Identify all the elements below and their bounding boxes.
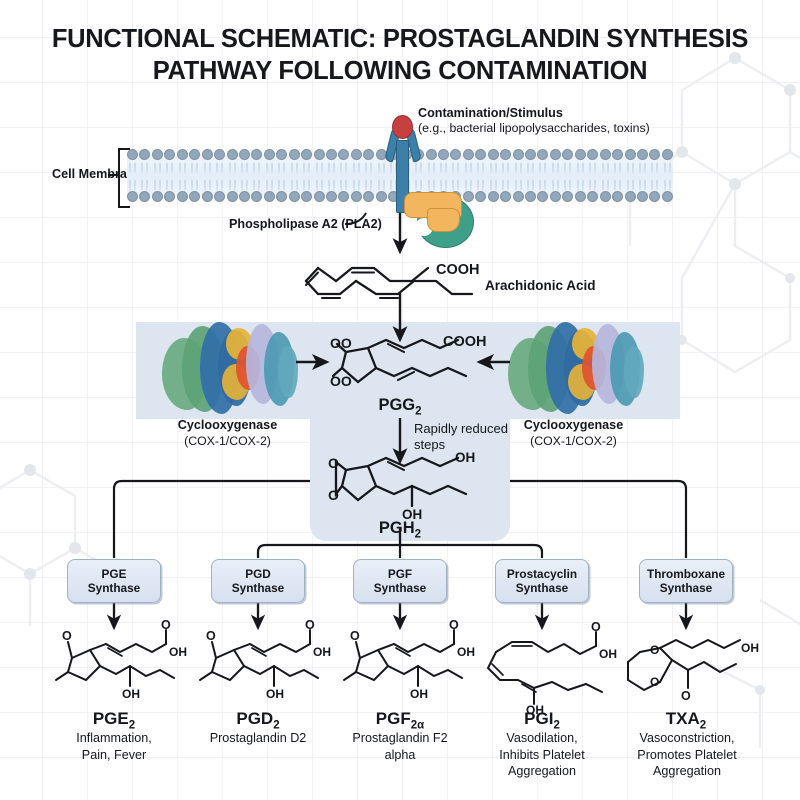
pgh2-structure	[336, 458, 466, 506]
pgi2-desc-1: Vasodilation,	[472, 730, 612, 747]
aa-cooh-label: COOH	[436, 262, 480, 278]
synthase-thromboxane-line2: Synthase	[660, 581, 712, 595]
synthase-pge-text: PGE Synthase	[88, 567, 140, 596]
pgg2-cooh: COOH	[443, 334, 487, 350]
pge2-desc-2: Pain, Fever	[44, 747, 184, 764]
synthase-pgd-text: PGD Synthase	[232, 567, 284, 596]
pgf2a-desc-2: alpha	[330, 747, 470, 764]
pgg2-main: PGG	[378, 396, 415, 414]
product-name-txa2: TXA2	[626, 709, 746, 731]
pgg2-label: PGG2	[340, 396, 460, 417]
synthase-prostacyclin-text: Prostacyclin Synthase	[507, 567, 577, 596]
synthase-prostacyclin-line1: Prostacyclin	[507, 567, 577, 581]
product-desc-pgf2a: Prostaglandin F2 alpha	[330, 730, 470, 763]
svg-text:OH: OH	[599, 647, 617, 661]
synthase-box-pge[interactable]: PGE Synthase	[67, 559, 161, 603]
synthase-pge-line2: Synthase	[88, 581, 140, 595]
synthase-box-prostacyclin[interactable]: Prostacyclin Synthase	[495, 559, 589, 603]
svg-text:O: O	[650, 643, 659, 657]
svg-text:OH: OH	[122, 687, 140, 701]
pgi2-structure	[488, 632, 602, 704]
txa2-desc-1: Vasoconstriction,	[612, 730, 762, 747]
pgi2-desc-2: Inhibits Platelet	[472, 747, 612, 764]
reduction-note: Rapidly reduced steps	[414, 421, 508, 454]
product-pge2-base: PGE	[93, 709, 129, 728]
synthase-pgf-line1: PGF	[388, 567, 412, 581]
txa2-desc-3: Aggregation	[612, 763, 762, 780]
pgh2-sub: 2	[415, 528, 421, 540]
product-pgi2-base: PGI	[524, 709, 553, 728]
product-pgf2a-base: PGF	[376, 709, 411, 728]
product-name-pge2: PGE2	[54, 709, 174, 731]
product-txa2-base: TXA	[666, 709, 700, 728]
product-name-pgd2: PGD2	[198, 709, 318, 731]
svg-text:O: O	[650, 675, 659, 689]
svg-text:O: O	[206, 629, 216, 643]
svg-text:O: O	[305, 618, 315, 632]
product-desc-pgd2: Prostaglandin D2	[188, 730, 328, 747]
product-pgd2-base: PGD	[236, 709, 273, 728]
pgd2-structure	[200, 630, 318, 686]
pgf2a-desc-1: Prostaglandin F2	[330, 730, 470, 747]
pge2-desc-1: Inflammation,	[44, 730, 184, 747]
pgf2a-structure	[344, 630, 462, 686]
pgg2-sub: 2	[415, 405, 421, 417]
svg-text:O: O	[591, 620, 601, 634]
synthase-pgf-line2: Synthase	[374, 581, 426, 595]
svg-text:O: O	[449, 618, 459, 632]
product-name-pgf2a: PGF2α	[340, 709, 460, 731]
diagram-canvas: FUNCTIONAL SCHEMATIC: PROSTAGLANDIN SYNT…	[0, 0, 800, 800]
synthase-box-pgf[interactable]: PGF Synthase	[353, 559, 447, 603]
svg-text:OH: OH	[266, 687, 284, 701]
svg-text:OH: OH	[457, 645, 475, 659]
pgh2-label: PGH2	[340, 519, 460, 540]
pgg2-oo-bottom: OO	[330, 373, 352, 389]
svg-text:OH: OH	[410, 687, 428, 701]
synthase-box-thromboxane[interactable]: Thromboxane Synthase	[639, 559, 733, 603]
synthase-thromboxane-line1: Thromboxane	[647, 567, 725, 581]
pgh2-o-bottom: O	[328, 487, 339, 503]
svg-text:O: O	[161, 618, 171, 632]
svg-text:OH: OH	[741, 641, 759, 655]
reduction-note-line-2: steps	[414, 437, 508, 453]
pge2-structure	[56, 630, 174, 686]
pgh2-main: PGH	[379, 519, 415, 537]
pgi2-desc-3: Aggregation	[472, 763, 612, 780]
txa2-desc-2: Promotes Platelet	[612, 747, 762, 764]
product-desc-txa2: Vasoconstriction, Promotes Platelet Aggr…	[612, 730, 762, 780]
product-desc-pge2: Inflammation, Pain, Fever	[44, 730, 184, 763]
synthase-pge-line1: PGE	[102, 567, 127, 581]
product-name-pgi2: PGI2	[482, 709, 602, 731]
txa2-structure	[628, 640, 740, 690]
synthase-pgd-line1: PGD	[245, 567, 271, 581]
pgd2-desc-1: Prostaglandin D2	[188, 730, 328, 747]
product-desc-pgi2: Vasodilation, Inhibits Platelet Aggregat…	[472, 730, 612, 780]
svg-text:O: O	[350, 629, 360, 643]
svg-text:OH: OH	[169, 645, 187, 659]
synthase-box-pgd[interactable]: PGD Synthase	[211, 559, 305, 603]
synthase-prostacyclin-line2: Synthase	[516, 581, 568, 595]
synthase-pgd-line2: Synthase	[232, 581, 284, 595]
reduction-note-line-1: Rapidly reduced	[414, 421, 508, 437]
svg-text:OH: OH	[313, 645, 331, 659]
pgh2-o-top: O	[328, 455, 339, 471]
svg-text:O: O	[62, 629, 72, 643]
svg-text:O: O	[681, 689, 691, 703]
synthase-pgf-text: PGF Synthase	[374, 567, 426, 596]
pgg2-oo-top: OO	[330, 335, 352, 351]
arachidonic-acid-label: Arachidonic Acid	[485, 278, 596, 293]
synthase-thromboxane-text: Thromboxane Synthase	[647, 567, 725, 596]
